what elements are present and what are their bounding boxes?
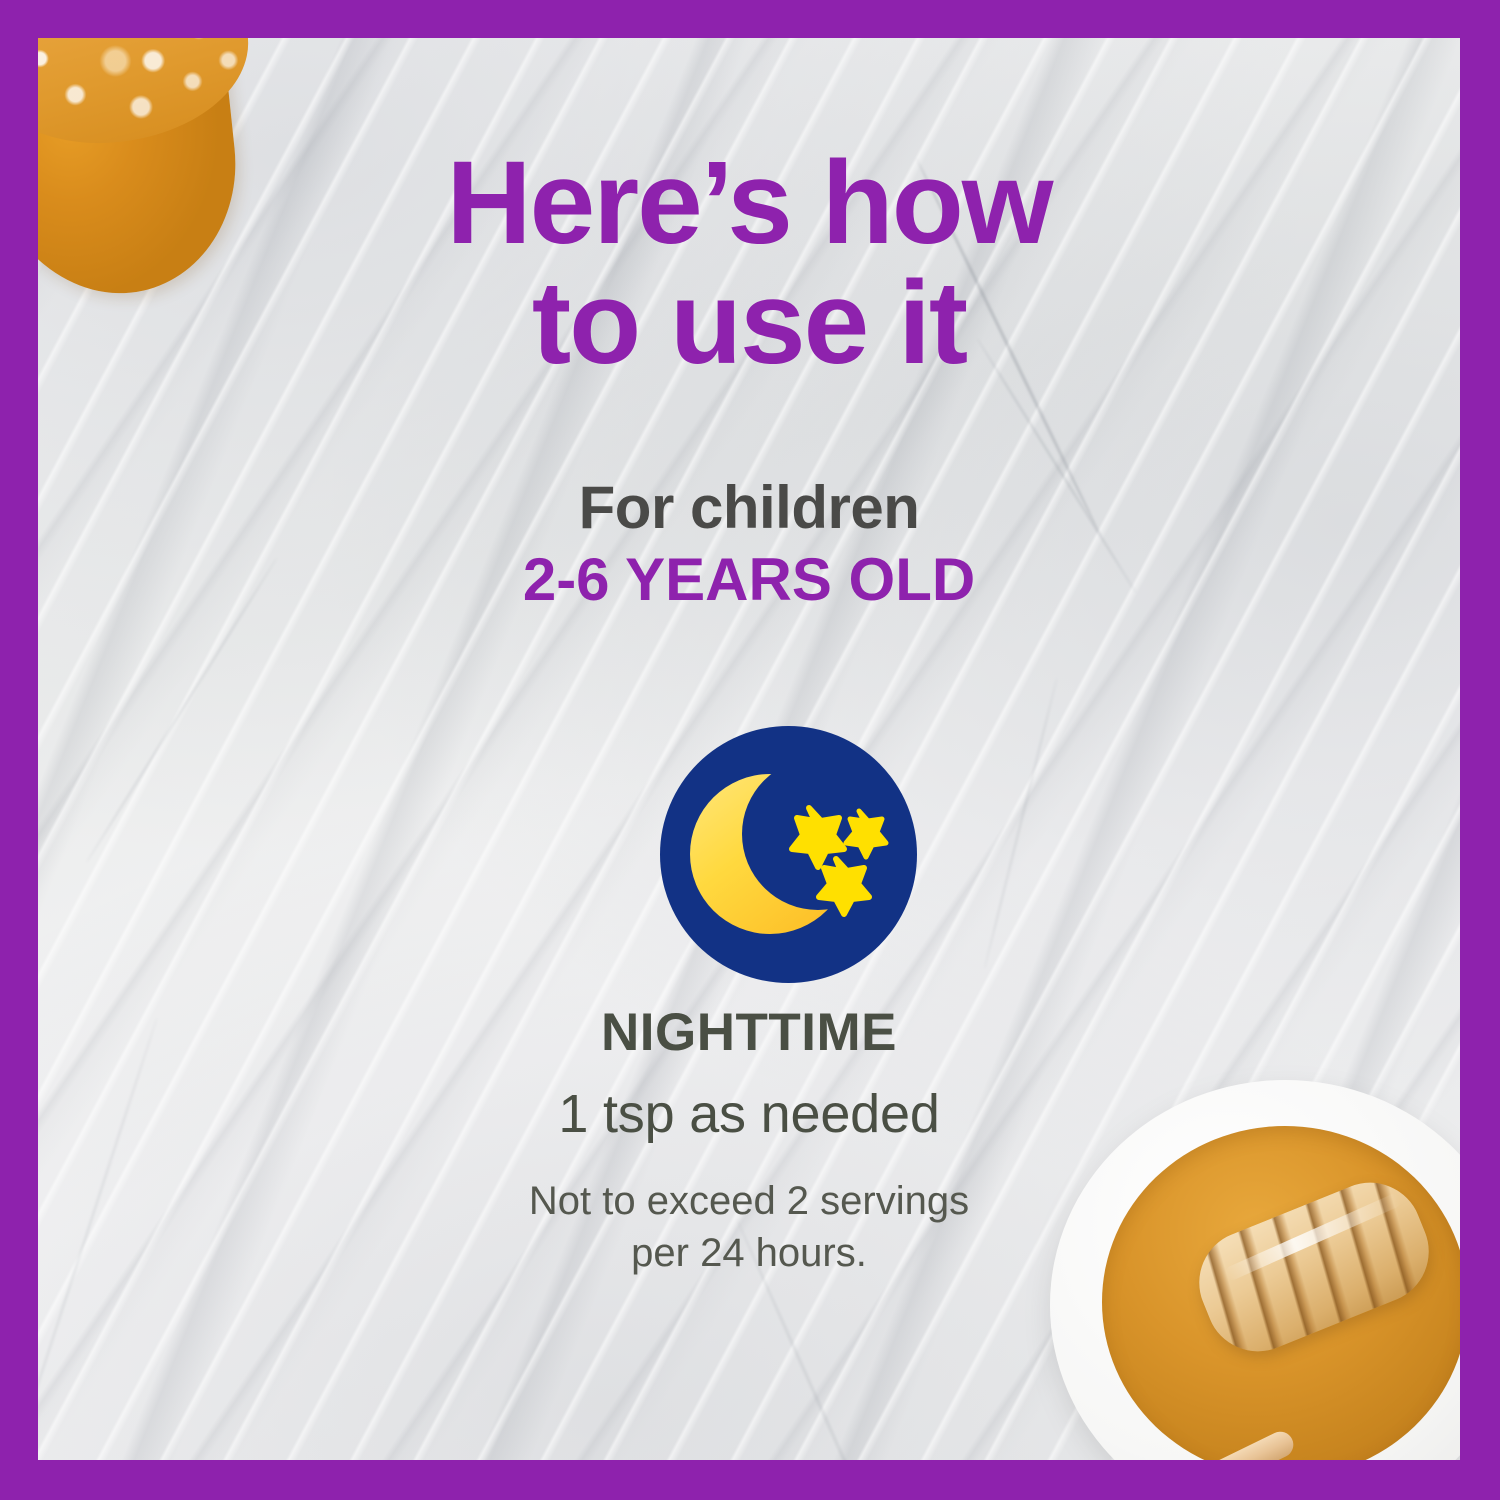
audience-block: For children 2-6 YEARS OLD: [38, 473, 1460, 619]
dosage-note: Not to exceed 2 servings per 24 hours.: [38, 1175, 1460, 1279]
page-title: Here’s how to use it: [38, 143, 1460, 384]
dosage-note-line-2: per 24 hours.: [38, 1227, 1460, 1279]
audience-age-range: 2-6 YEARS OLD: [38, 542, 1460, 619]
dosage-note-line-1: Not to exceed 2 servings: [38, 1175, 1460, 1227]
headline-line-1: Here’s how: [38, 143, 1460, 263]
product-photo-panel: Here’s how to use it For children 2-6 YE…: [38, 38, 1460, 1460]
audience-label: For children: [38, 473, 1460, 542]
dosage-amount-label: 1 tsp as needed: [38, 1078, 1460, 1151]
content-overlay: Here’s how to use it For children 2-6 YE…: [38, 38, 1460, 1460]
dosage-block: NIGHTTIME 1 tsp as needed Not to exceed …: [38, 1000, 1460, 1279]
dosage-period-label: NIGHTTIME: [38, 1000, 1460, 1066]
headline-line-2: to use it: [38, 263, 1460, 383]
moon-and-stars-icon: [660, 726, 917, 983]
poster: Here’s how to use it For children 2-6 YE…: [0, 0, 1500, 1500]
crescent-moon-icon: [660, 726, 917, 983]
